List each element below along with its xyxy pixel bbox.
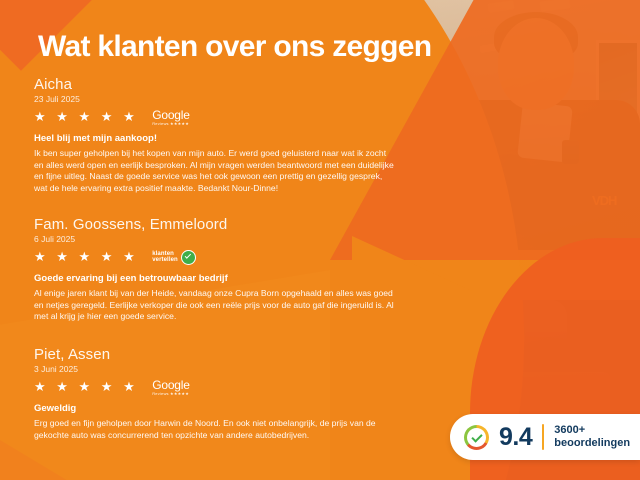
google-reviews-subtitle: Reviews ★★★★★ [152,391,190,396]
reviewer-name: Piet, Assen [34,346,406,363]
rating-badge[interactable]: 9.4 3600+ beoordelingen [450,414,640,460]
testimonials-banner: VDH Wat klanten over ons zeggen Aicha 23… [0,0,640,480]
klantenvertellen-line2: vertellen [152,257,178,264]
review-headline: Goede ervaring bij een betrouwbaar bedri… [34,273,406,285]
google-reviews-subtitle: Reviews ★★★★★ [152,121,190,126]
page-title: Wat klanten over ons zeggen [38,30,431,64]
review-body: Ik ben super geholpen bij het kopen van … [34,148,394,194]
review-body: Al enige jaren klant bij van der Heide, … [34,288,394,323]
review-source-badge: Google Reviews ★★★★★ [152,108,190,126]
google-wordmark: Google [152,109,190,121]
verified-check-icon [464,425,489,450]
google-reviews-logo: Google Reviews ★★★★★ [152,379,190,396]
review-meta: ★ ★ ★ ★ ★ klanten vertellen [34,248,406,266]
review-headline: Geweldig [34,403,406,415]
rating-count: 3600+ [554,424,630,437]
review-source-badge: Google Reviews ★★★★★ [152,378,190,396]
review-date: 3 Juni 2025 [34,364,406,375]
review-headline: Heel blij met mijn aankoop! [34,133,406,145]
review-meta: ★ ★ ★ ★ ★ Google Reviews ★★★★★ [34,108,406,126]
google-wordmark: Google [152,379,190,391]
star-rating-icon: ★ ★ ★ ★ ★ [34,108,138,126]
green-check-icon [181,250,196,265]
star-rating-icon: ★ ★ ★ ★ ★ [34,248,138,266]
review-source-badge: klanten vertellen [152,248,196,266]
star-rating-icon: ★ ★ ★ ★ ★ [34,378,138,396]
review-card: Fam. Goossens, Emmeloord 6 Juli 2025 ★ ★… [34,216,406,323]
rating-score: 9.4 [499,423,532,452]
google-reviews-logo: Google Reviews ★★★★★ [152,109,190,126]
review-meta: ★ ★ ★ ★ ★ Google Reviews ★★★★★ [34,378,406,396]
klantenvertellen-logo: klanten vertellen [152,250,196,265]
rating-label: beoordelingen [554,437,630,450]
divider [542,424,544,450]
reviewer-name: Fam. Goossens, Emmeloord [34,216,406,233]
review-card: Aicha 23 Juli 2025 ★ ★ ★ ★ ★ Google Revi… [34,76,406,194]
review-date: 23 Juli 2025 [34,94,406,105]
review-body: Erg goed en fijn geholpen door Harwin de… [34,418,394,441]
review-card: Piet, Assen 3 Juni 2025 ★ ★ ★ ★ ★ Google… [34,346,406,441]
reviewer-name: Aicha [34,76,406,93]
review-date: 6 Juli 2025 [34,234,406,245]
